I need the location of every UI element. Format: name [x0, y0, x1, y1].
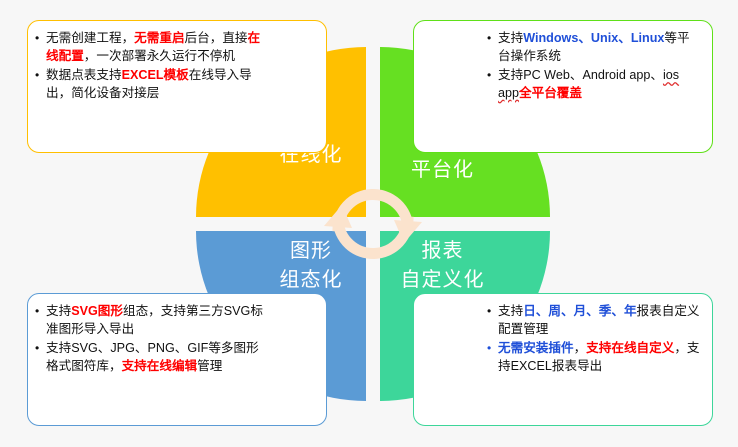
callout-cross-platform-bullets: 支持Windows、Unix、Linux等平台操作系统 支持PC Web、And… — [486, 30, 702, 102]
list-item: 无需创建工程，无需重启后台，直接在线配置，一次部署永久运行不停机 — [34, 30, 264, 65]
text-run: 支持 — [498, 304, 523, 318]
quadrant-label-graphics: 图形 组态化 — [251, 237, 371, 295]
text-run: ，一次部署永久运行不停机 — [84, 49, 235, 63]
text-run: 支持 — [46, 304, 71, 318]
callout-cross-platform: 支持Windows、Unix、Linux等平台操作系统 支持PC Web、And… — [413, 20, 713, 153]
text-run-highlight: 支持在线自定义 — [586, 341, 674, 355]
list-item: 支持日、周、月、季、年报表自定义配置管理 — [486, 303, 702, 338]
text-run-highlight: 支持在线编辑 — [122, 359, 198, 373]
text-run-highlight: 无需安装插件 — [498, 341, 574, 355]
text-run-highlight: 无需重启 — [134, 31, 184, 45]
text-run: ， — [574, 341, 587, 355]
text-run-highlight: 日、周、月、季、年 — [523, 304, 636, 318]
text-run: 支持 — [498, 31, 523, 45]
text-run-highlight: SVG图形 — [71, 304, 123, 318]
quadrant-label-report: 报表 自定义化 — [380, 237, 505, 295]
text-run-highlight: 全平台覆盖 — [519, 86, 582, 100]
text-run: 支持PC Web、Android app、 — [498, 68, 663, 82]
list-item: 数据点表支持EXCEL模板在线导入导出，简化设备对接层 — [34, 67, 264, 102]
list-item: 支持SVG、JPG、PNG、GIF等多图形格式图符库，支持在线编辑管理 — [34, 340, 264, 375]
callout-graphics-bullets: 支持SVG图形组态，支持第三方SVG标准图形导入导出 支持SVG、JPG、PNG… — [34, 303, 264, 375]
callout-report: 支持日、周、月、季、年报表自定义配置管理 无需安装插件，支持在线自定义，支持EX… — [413, 293, 713, 426]
callout-online: 无需创建工程，无需重启后台，直接在线配置，一次部署永久运行不停机 数据点表支持E… — [27, 20, 327, 153]
text-run: 后台，直接 — [185, 31, 248, 45]
callout-report-bullets: 支持日、周、月、季、年报表自定义配置管理 无需安装插件，支持在线自定义，支持EX… — [486, 303, 702, 375]
text-run-highlight: Windows、Unix、Linux — [523, 31, 664, 45]
text-run: 管理 — [197, 359, 222, 373]
infographic-canvas: 在线化 跨 平台化 图形 组态化 报表 自定义化 无需创建工程，无需重启后台，直… — [0, 0, 738, 447]
list-item: 支持Windows、Unix、Linux等平台操作系统 — [486, 30, 702, 65]
list-item: 支持SVG图形组态，支持第三方SVG标准图形导入导出 — [34, 303, 264, 338]
text-run: 数据点表支持 — [46, 68, 122, 82]
callout-online-bullets: 无需创建工程，无需重启后台，直接在线配置，一次部署永久运行不停机 数据点表支持E… — [34, 30, 264, 102]
callout-graphics: 支持SVG图形组态，支持第三方SVG标准图形导入导出 支持SVG、JPG、PNG… — [27, 293, 327, 426]
list-item: 无需安装插件，支持在线自定义，支持EXCEL报表导出 — [486, 340, 702, 375]
text-run: 无需创建工程， — [46, 31, 134, 45]
list-item: 支持PC Web、Android app、ios app全平台覆盖 — [486, 67, 702, 102]
text-run-highlight: EXCEL模板 — [122, 68, 189, 82]
